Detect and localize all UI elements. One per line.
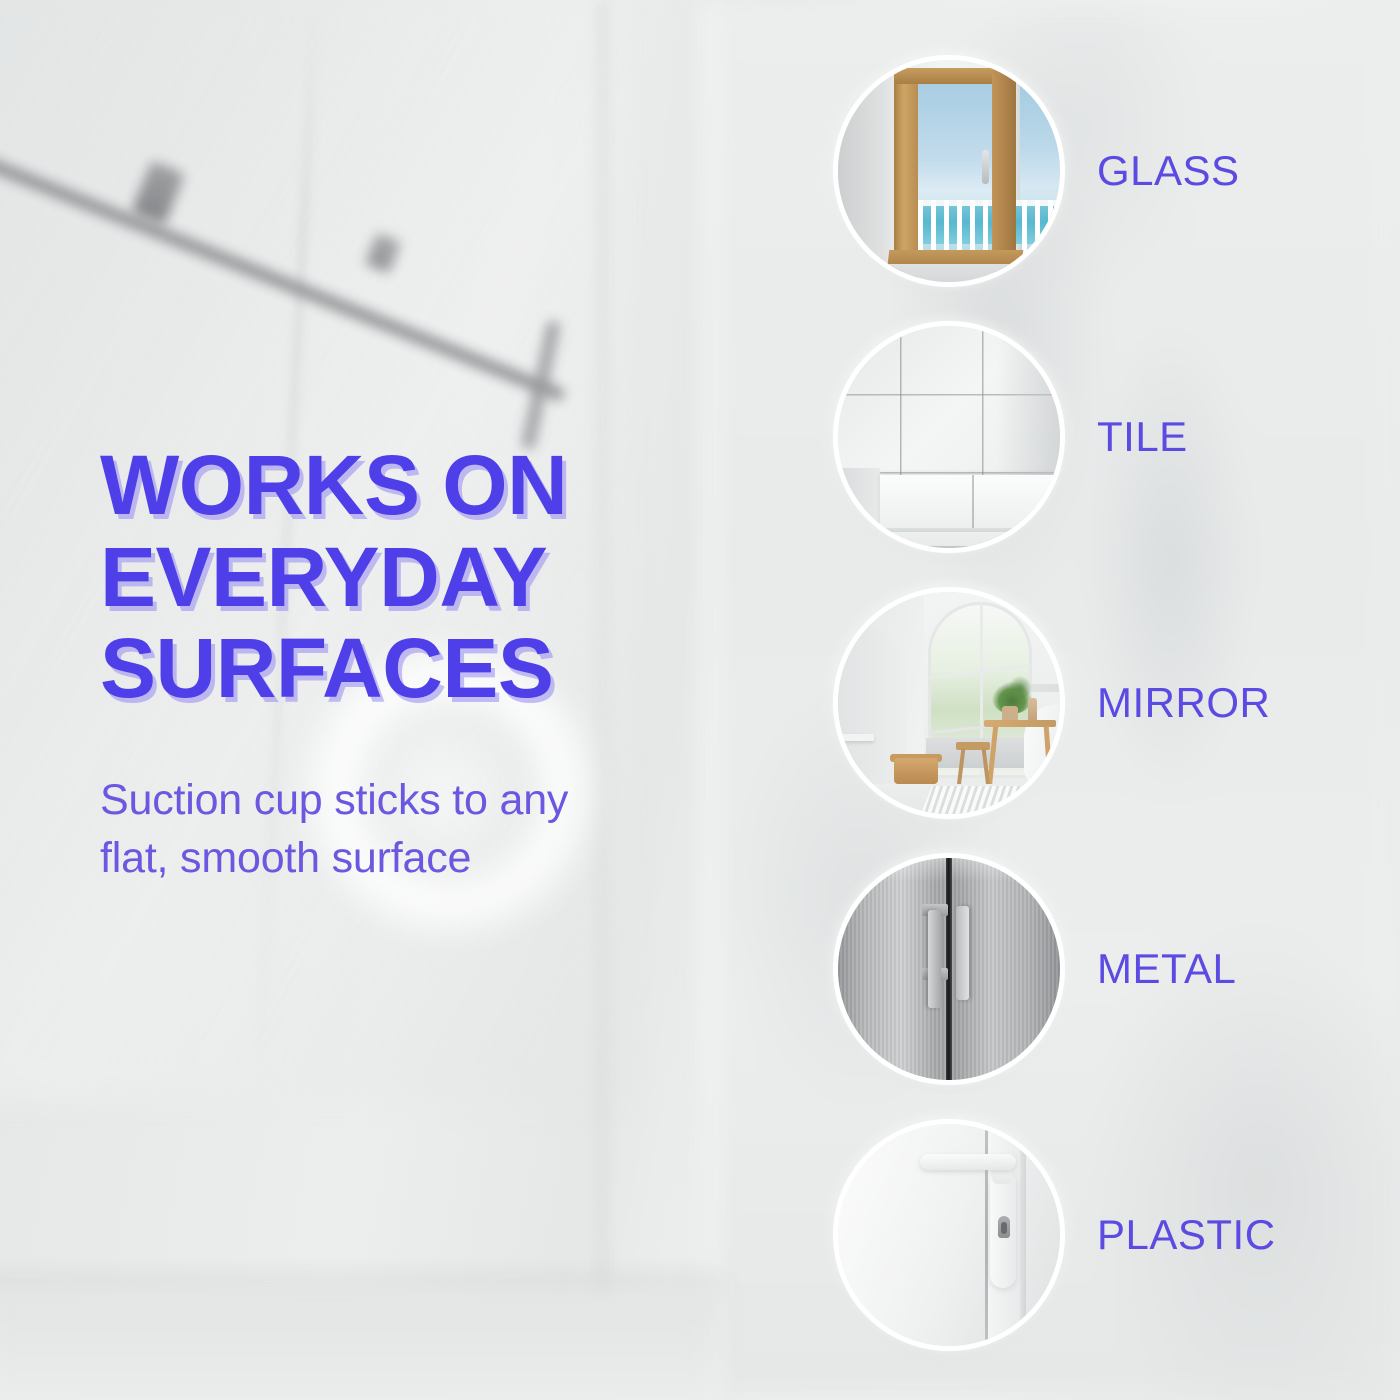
surface-label-glass: GLASS (1097, 147, 1240, 195)
fridge-handle-right (956, 906, 969, 1000)
mirror-shelf (838, 734, 874, 741)
mirror-scene (833, 587, 1065, 819)
headline-line-1: WORKS ON (100, 440, 720, 532)
surface-label-tile: TILE (1097, 413, 1188, 461)
surface-label-plastic: PLASTIC (1097, 1211, 1276, 1259)
headline-line-3: SURFACES (100, 623, 720, 715)
floor-surface (0, 1288, 720, 1400)
tile-bench-seam (972, 475, 974, 533)
surface-item-plastic: PLASTIC (833, 1119, 1303, 1351)
surface-item-mirror: MIRROR (833, 587, 1303, 819)
copy-block: WORKS ON EVERYDAY SURFACES Suction cup s… (100, 440, 720, 888)
tile-floor-seam (833, 546, 1065, 548)
surface-photo-mirror (833, 587, 1065, 819)
metal-scene (833, 853, 1065, 1085)
infographic-canvas: WORKS ON EVERYDAY SURFACES Suction cup s… (0, 0, 1400, 1400)
tile-scene (833, 321, 1065, 553)
page-title: WORKS ON EVERYDAY SURFACES (100, 440, 720, 715)
surface-photo-tile (833, 321, 1065, 553)
surface-item-tile: TILE (833, 321, 1303, 553)
mirror-plant-foliage-top (1008, 676, 1032, 698)
subtitle-line-2: flat, smooth surface (100, 829, 720, 887)
fridge-handle-left (928, 910, 941, 1008)
pvc-door-shading (833, 1119, 1065, 1351)
glass-door-handle (982, 150, 989, 184)
surface-photo-metal (833, 853, 1065, 1085)
tile-floor (833, 532, 1065, 553)
surface-label-mirror: MIRROR (1097, 679, 1270, 727)
mirror-striped-rug (916, 786, 1060, 819)
surface-item-metal: METAL (833, 853, 1303, 1085)
mirror-bottle (1028, 698, 1037, 722)
surface-photo-glass (833, 55, 1065, 287)
glass-floor (872, 264, 1065, 287)
glass-scene (833, 55, 1065, 287)
surface-photo-plastic (833, 1119, 1065, 1351)
subtitle-line-1: Suction cup sticks to any (100, 771, 720, 829)
headline-line-2: EVERYDAY (100, 532, 720, 624)
plastic-scene (833, 1119, 1065, 1351)
mirror-wicker-basket (894, 758, 938, 784)
surface-item-glass: GLASS (833, 55, 1303, 287)
surface-label-metal: METAL (1097, 945, 1236, 993)
subtitle: Suction cup sticks to any flat, smooth s… (100, 715, 720, 888)
